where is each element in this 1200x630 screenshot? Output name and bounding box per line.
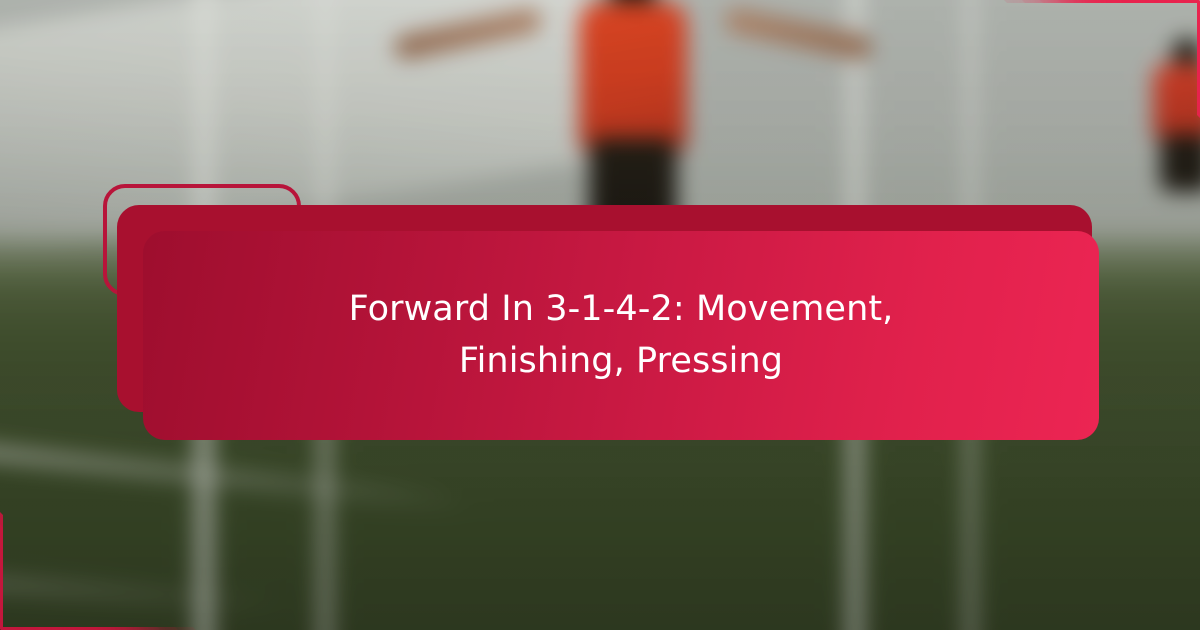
corner-line-4: [0, 548, 142, 630]
corner-brackets-top-right: [970, 0, 1200, 130]
corner-brackets-bottom-left: [0, 500, 230, 630]
title-card-front: Forward In 3-1-4-2: Movement, Finishing,…: [143, 231, 1099, 440]
title-card-stack: Forward In 3-1-4-2: Movement, Finishing,…: [103, 184, 1099, 442]
page-title: Forward In 3-1-4-2: Movement, Finishing,…: [271, 284, 971, 388]
share-card-canvas: Forward In 3-1-4-2: Movement, Finishing,…: [0, 0, 1200, 630]
page-title-line-2: Pressing: [636, 341, 783, 381]
corner-line-4: [1058, 0, 1200, 82]
page-title-line-1: Forward In 3-1-4-2: Movement, Finishing,: [349, 289, 894, 381]
